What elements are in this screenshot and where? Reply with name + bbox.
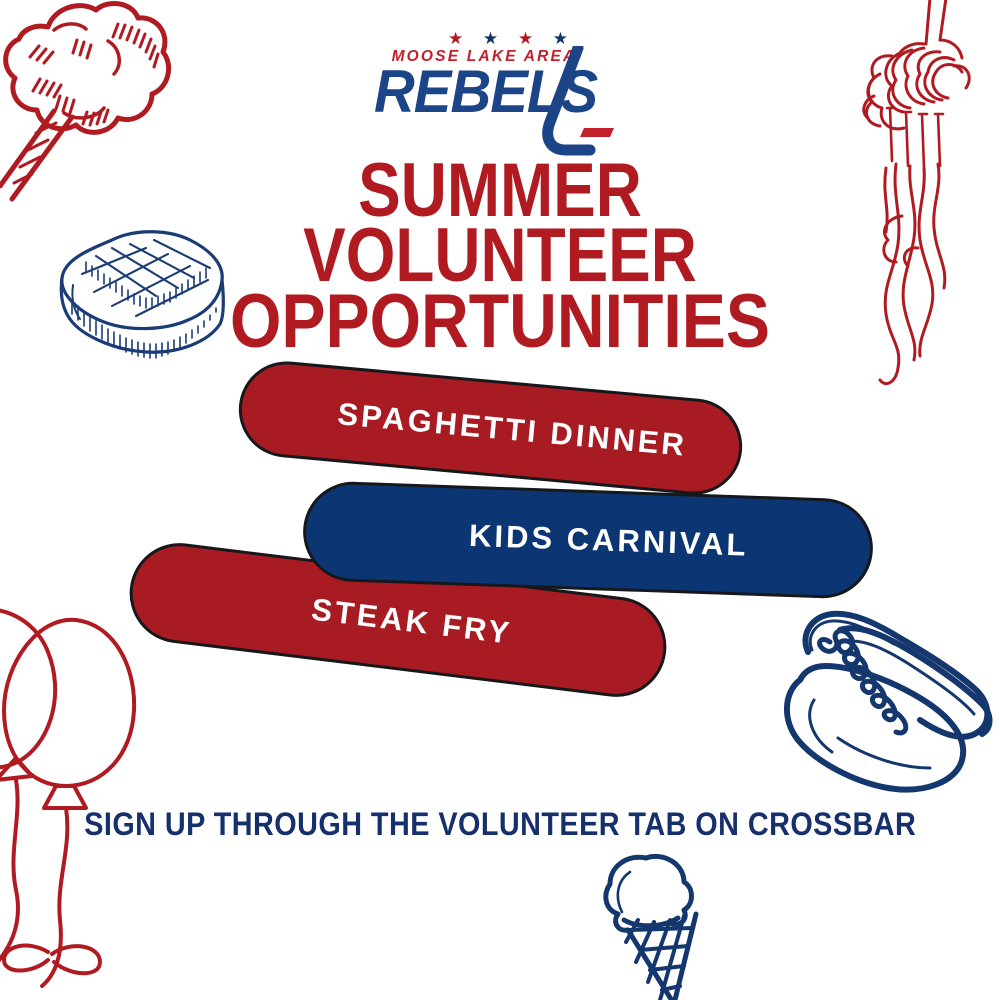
star-blue-icon: ★ xyxy=(483,30,498,47)
event-pill-label: SPAGHETTI DINNER xyxy=(336,396,688,464)
logo-stars: ★ ★ ★ ★ xyxy=(448,28,568,48)
star-red-icon: ★ xyxy=(518,30,533,47)
signup-instruction-text: SIGN UP THROUGH THE VOLUNTEER TAB ON CRO… xyxy=(84,806,916,843)
signup-instruction: SIGN UP THROUGH THE VOLUNTEER TAB ON CRO… xyxy=(0,806,1000,843)
event-pill-label: KIDS CARNIVAL xyxy=(468,518,749,564)
title-line-3: OPPORTUNITIES xyxy=(65,289,935,354)
event-pill-spaghetti-dinner[interactable]: SPAGHETTI DINNER xyxy=(235,357,747,498)
hot-dog-illustration xyxy=(778,596,998,796)
ice-cream-cone-illustration xyxy=(592,852,722,1000)
poster-canvas: ★ ★ ★ ★ MOOSE LAKE AREA REBELS SUMMER VO… xyxy=(0,0,1000,1000)
balloons-illustration xyxy=(0,580,166,1000)
star-blue-icon: ★ xyxy=(553,30,568,47)
logo-dash-accent xyxy=(580,128,614,137)
star-red-icon: ★ xyxy=(448,30,463,47)
event-pill-kids-carnival[interactable]: KIDS CARNIVAL xyxy=(301,480,874,600)
rebels-logo: ★ ★ ★ ★ MOOSE LAKE AREA REBELS xyxy=(370,28,640,158)
event-pill-label: STEAK FRY xyxy=(309,592,513,652)
page-title: SUMMER VOLUNTEER OPPORTUNITIES xyxy=(0,158,1000,354)
